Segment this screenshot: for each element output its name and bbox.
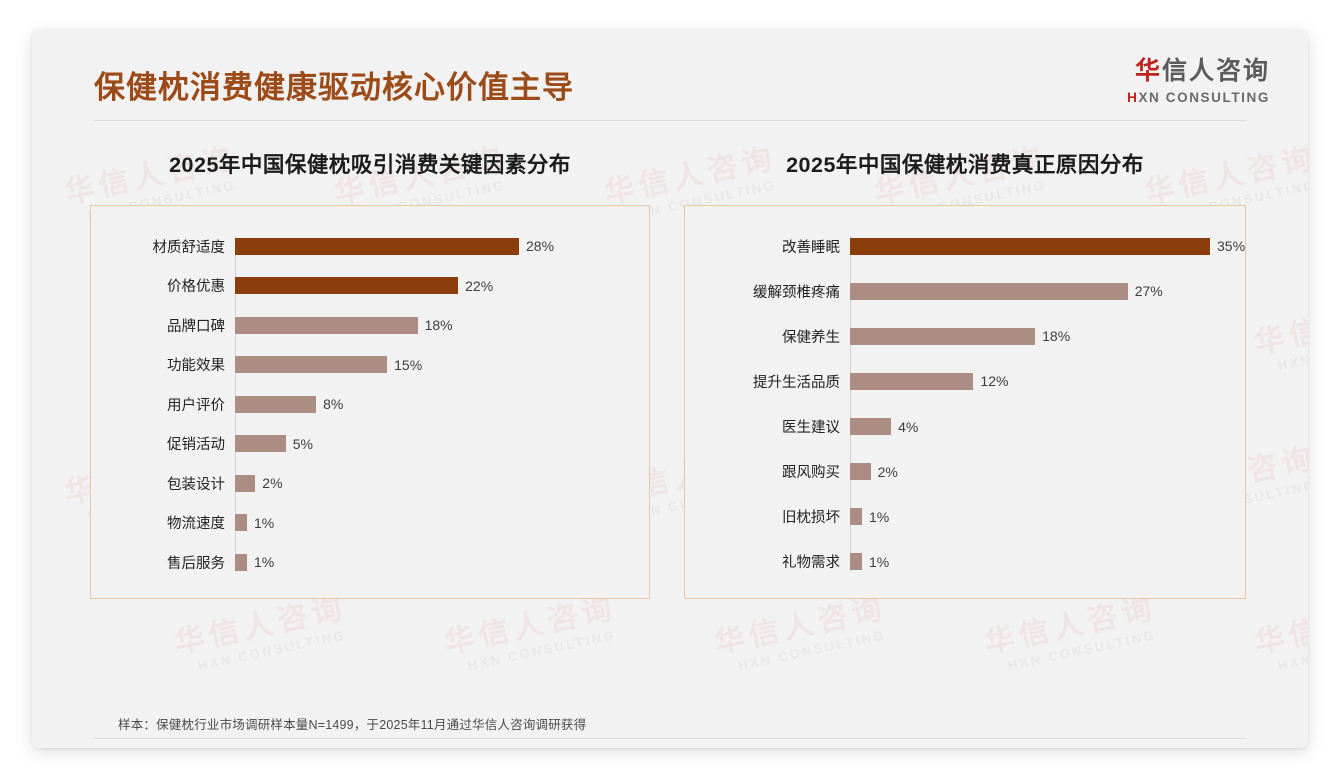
bar-row: 物流速度1% [91,513,633,533]
slide-card: 华信人咨询HXN CONSULTING华信人咨询HXN CONSULTING华信… [32,30,1308,748]
bar-category-label: 跟风购买 [685,461,850,482]
bar-value-label: 18% [1042,328,1070,344]
watermark-chinese: 华信人咨询 [712,594,889,660]
company-logo: 华信人咨询 HXN CONSULTING [1127,58,1270,105]
bar-row: 礼物需求1% [685,552,1229,572]
bar-track: 5% [235,434,633,454]
bar-value-label: 2% [262,475,282,491]
bar-category-label: 缓解颈椎疼痛 [685,281,850,302]
watermark-chinese: 华信人咨询 [172,594,349,660]
bar-track: 15% [235,355,633,375]
bar-list-right: 改善睡眠35%缓解颈椎疼痛27%保健养生18%提升生活品质12%医生建议4%跟风… [685,236,1229,572]
bar-fill [850,238,1210,255]
logo-en-rest: XN CONSULTING [1138,90,1270,105]
chart-title-left: 2025年中国保健枕吸引消费关键因素分布 [90,148,650,179]
slide-header: 保健枕消费健康驱动核心价值主导 华信人咨询 HXN CONSULTING [32,30,1308,120]
bar-category-label: 提升生活品质 [685,371,850,392]
watermark-chinese: 华信人咨询 [1252,594,1308,660]
bar-list-left: 材质舒适度28%价格优惠22%品牌口碑18%功能效果15%用户评价8%促销活动5… [91,236,633,572]
chart-column-left: 2025年中国保健枕吸引消费关键因素分布 材质舒适度28%价格优惠22%品牌口碑… [32,148,670,599]
watermark-english: HXN CONSULTING [466,626,623,673]
bar-row: 功能效果15% [91,355,633,375]
bar-track: 27% [850,281,1229,301]
chart-panel-right: 改善睡眠35%缓解颈椎疼痛27%保健养生18%提升生活品质12%医生建议4%跟风… [684,205,1246,599]
bar-row: 包装设计2% [91,473,633,493]
bar-fill [235,317,418,334]
watermark: 华信人咨询HXN CONSULTING [172,594,353,677]
bar-category-label: 促销活动 [91,433,235,454]
chart-panel-left: 材质舒适度28%价格优惠22%品牌口碑18%功能效果15%用户评价8%促销活动5… [90,205,650,599]
watermark-english: HXN CONSULTING [1006,626,1163,673]
bar-track: 35% [850,236,1245,256]
bar-row: 材质舒适度28% [91,236,633,256]
bar-track: 1% [235,513,633,533]
bar-category-label: 包装设计 [91,473,235,494]
bar-category-label: 售后服务 [91,552,235,573]
bar-fill [235,554,247,571]
bar-value-label: 22% [465,278,493,294]
chart-column-right: 2025年中国保健枕消费真正原因分布 改善睡眠35%缓解颈椎疼痛27%保健养生1… [670,148,1308,599]
bar-category-label: 物流速度 [91,512,235,533]
logo-en-highlight: H [1127,90,1138,105]
bar-row: 缓解颈椎疼痛27% [685,281,1229,301]
source-note: 样本：保健枕行业市场调研样本量N=1499，于2025年11月通过华信人咨询调研… [118,714,586,733]
bar-category-label: 功能效果 [91,354,235,375]
bar-track: 1% [850,507,1229,527]
bar-value-label: 1% [869,554,889,570]
header-divider [94,120,1246,121]
watermark: 华信人咨询HXN CONSULTING [1252,594,1308,677]
bar-track: 1% [235,552,633,572]
bar-category-label: 保健养生 [685,326,850,347]
watermark-english: HXN CONSULTING [196,626,353,673]
bar-row: 促销活动5% [91,434,633,454]
bar-fill [850,508,862,525]
bar-track: 1% [850,552,1229,572]
bar-track: 18% [235,315,633,335]
bar-track: 22% [235,276,633,296]
bar-category-label: 用户评价 [91,394,235,415]
bar-fill [850,553,862,570]
bar-track: 28% [235,236,633,256]
bar-value-label: 1% [254,554,274,570]
bar-track: 4% [850,417,1229,437]
watermark-chinese: 华信人咨询 [982,594,1159,660]
chart-title-right: 2025年中国保健枕消费真正原因分布 [684,148,1246,179]
bar-row: 保健养生18% [685,326,1229,346]
slide-footer: ©2026.1 HXR华信人咨询 www.hxrcon.com [32,742,1308,748]
watermark: 华信人咨询HXN CONSULTING [982,594,1163,677]
bar-value-label: 12% [980,373,1008,389]
bar-fill [235,475,255,492]
bar-value-label: 18% [425,317,453,333]
bar-category-label: 品牌口碑 [91,315,235,336]
bar-track: 8% [235,394,633,414]
page-title: 保健枕消费健康驱动核心价值主导 [94,62,574,107]
bar-row: 跟风购买2% [685,462,1229,482]
logo-cn-highlight: 华 [1135,57,1162,85]
bar-value-label: 27% [1135,283,1163,299]
bar-value-label: 2% [878,464,898,480]
bar-fill [235,356,387,373]
bar-row: 用户评价8% [91,394,633,414]
bar-category-label: 材质舒适度 [91,236,235,257]
watermark-english: HXN CONSULTING [736,626,893,673]
logo-english-text: HXN CONSULTING [1127,90,1270,105]
bar-row: 医生建议4% [685,417,1229,437]
bar-value-label: 15% [394,357,422,373]
footer-divider [94,738,1246,739]
bar-value-label: 8% [323,396,343,412]
bar-value-label: 5% [293,436,313,452]
bar-fill [235,277,458,294]
bar-row: 品牌口碑18% [91,315,633,335]
bar-category-label: 改善睡眠 [685,236,850,257]
bar-category-label: 礼物需求 [685,551,850,572]
bar-track: 12% [850,371,1229,391]
bar-row: 改善睡眠35% [685,236,1229,256]
watermark: 华信人咨询HXN CONSULTING [712,594,893,677]
bar-fill [235,435,286,452]
bar-row: 旧枕损坏1% [685,507,1229,527]
bar-row: 价格优惠22% [91,276,633,296]
logo-cn-rest: 信人咨询 [1162,57,1270,85]
bar-fill [235,514,247,531]
bar-track: 2% [850,462,1229,482]
charts-container: 2025年中国保健枕吸引消费关键因素分布 材质舒适度28%价格优惠22%品牌口碑… [32,148,1308,599]
bar-category-label: 旧枕损坏 [685,506,850,527]
bar-value-label: 4% [898,419,918,435]
bar-track: 18% [850,326,1229,346]
watermark-chinese: 华信人咨询 [442,594,619,660]
bar-track: 2% [235,473,633,493]
bar-value-label: 1% [254,515,274,531]
bar-category-label: 医生建议 [685,416,850,437]
bar-fill [850,373,973,390]
bar-fill [850,463,871,480]
bar-fill [850,418,891,435]
bar-fill [235,238,519,255]
bar-value-label: 1% [869,509,889,525]
bar-fill [850,283,1128,300]
bar-category-label: 价格优惠 [91,275,235,296]
bar-row: 提升生活品质12% [685,371,1229,391]
logo-chinese-text: 华信人咨询 [1127,58,1270,86]
bar-value-label: 35% [1217,238,1245,254]
bar-value-label: 28% [526,238,554,254]
bar-fill [850,328,1035,345]
watermark: 华信人咨询HXN CONSULTING [442,594,623,677]
bar-fill [235,396,316,413]
watermark-english: HXN CONSULTING [1276,626,1308,673]
bar-row: 售后服务1% [91,552,633,572]
